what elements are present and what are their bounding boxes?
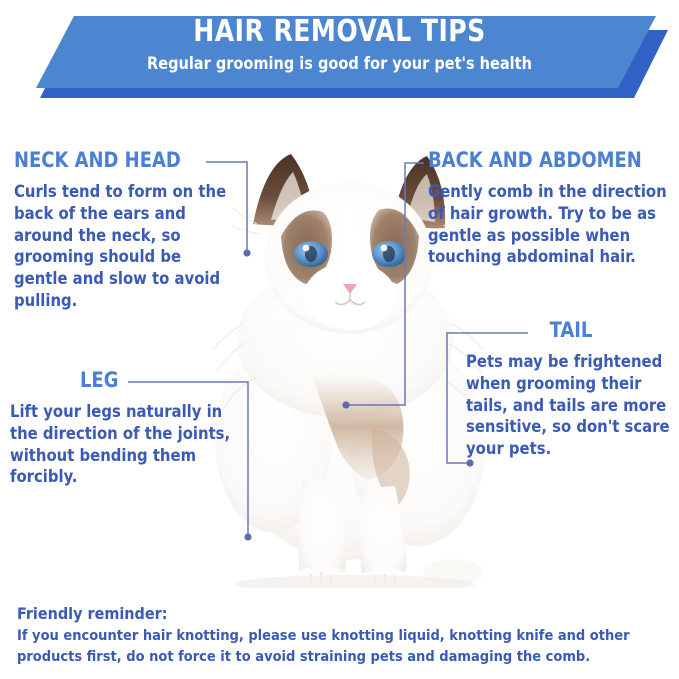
callout-tail: TAIL Pets may be frightened when groomin… (466, 318, 676, 460)
callout-body-tail: Pets may be frightened when grooming the… (466, 351, 676, 460)
callout-leg: LEG Lift your legs naturally in the dire… (10, 368, 235, 488)
callout-back-and-abdomen: BACK AND ABDOMEN Gently comb in the dire… (428, 148, 676, 268)
friendly-reminder: Friendly reminder: If you encounter hair… (17, 604, 667, 667)
friendly-reminder-body: If you encounter hair knotting, please u… (17, 626, 667, 667)
callout-neck-and-head: NECK AND HEAD Curls tend to form on the … (14, 148, 229, 312)
callout-title-leg: LEG (80, 368, 227, 392)
connector-back-and-abdomen (342, 163, 424, 409)
callout-body-neck-and-head: Curls tend to form on the back of the ea… (14, 181, 229, 312)
callout-body-leg: Lift your legs naturally in the directio… (10, 401, 235, 488)
callout-body-back-and-abdomen: Gently comb in the direction of hair gro… (428, 181, 676, 268)
callout-title-neck-and-head: NECK AND HEAD (14, 148, 218, 172)
callout-title-tail: TAIL (471, 318, 671, 342)
callout-title-back-and-abdomen: BACK AND ABDOMEN (428, 148, 664, 172)
friendly-reminder-label: Friendly reminder: (17, 604, 667, 623)
